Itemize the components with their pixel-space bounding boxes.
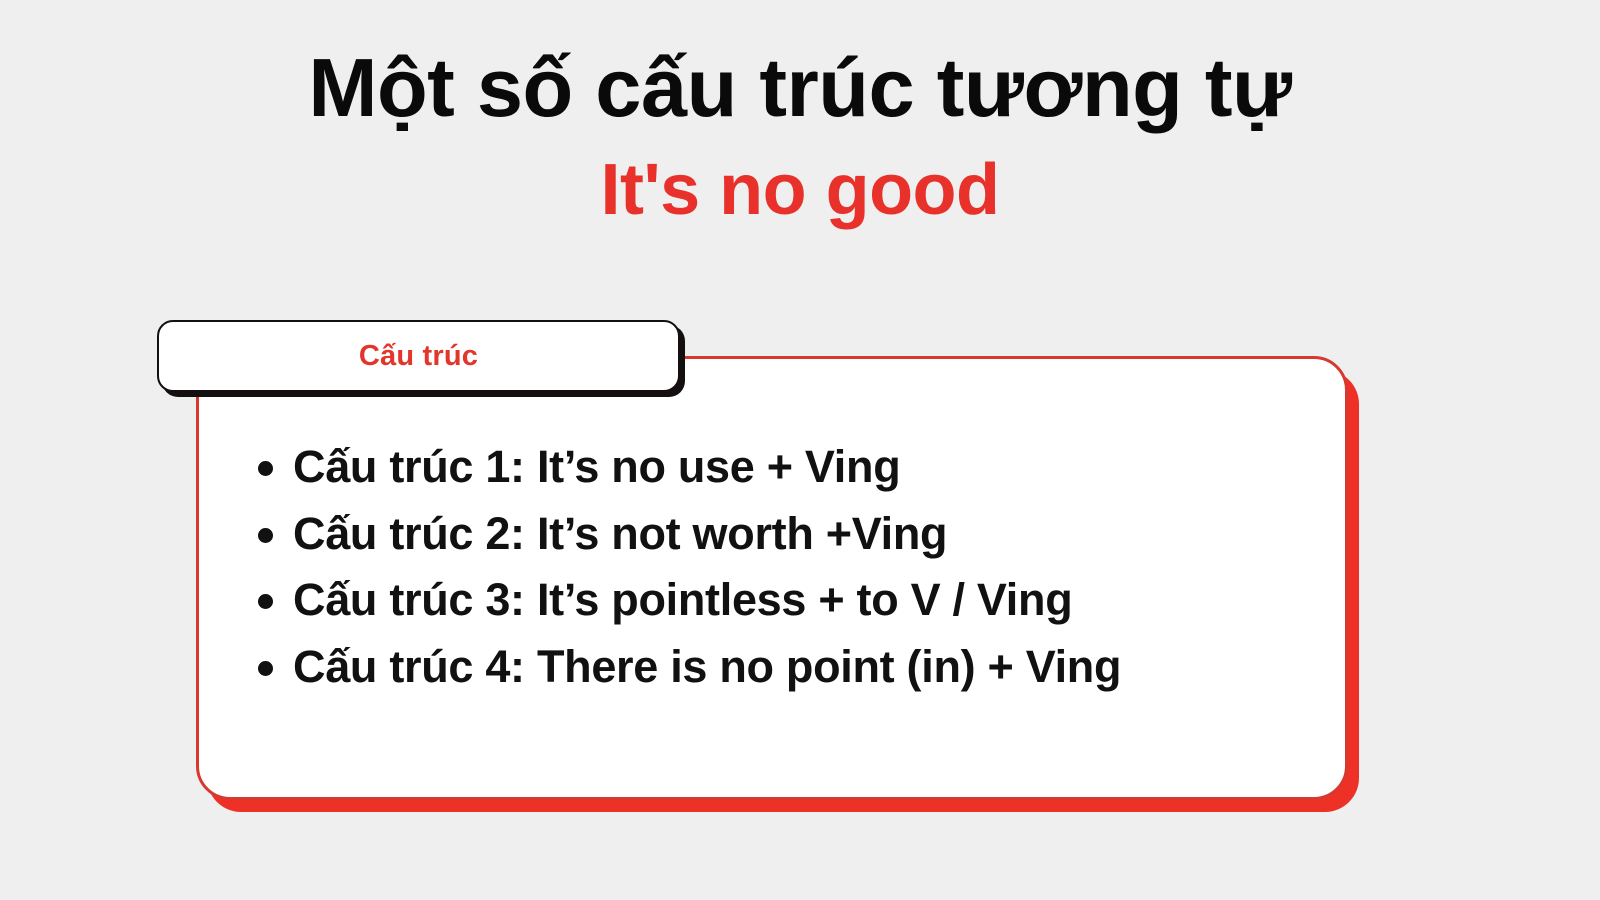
bullet-dot-icon bbox=[258, 461, 273, 476]
list-item-label: Cấu trúc 3: It’s pointless + to V / Ving bbox=[293, 575, 1072, 625]
card-content: Cấu trúc 1: It’s no use + Ving Cấu trúc … bbox=[196, 356, 1348, 800]
list-item-label: Cấu trúc 4: There is no point (in) + Vin… bbox=[293, 642, 1121, 692]
list-item: Cấu trúc 4: There is no point (in) + Vin… bbox=[240, 642, 1308, 692]
bullet-dot-icon bbox=[258, 528, 273, 543]
list-item-label: Cấu trúc 1: It’s no use + Ving bbox=[293, 442, 900, 492]
list-item: Cấu trúc 2: It’s not worth +Ving bbox=[240, 509, 1308, 559]
card-tab-label: Cấu trúc bbox=[359, 340, 478, 373]
page-subtitle: It's no good bbox=[0, 149, 1600, 232]
list-item: Cấu trúc 1: It’s no use + Ving bbox=[240, 442, 1308, 492]
structure-card: Cấu trúc 1: It’s no use + Ving Cấu trúc … bbox=[157, 320, 1357, 815]
heading-block: Một số cấu trúc tương tự It's no good bbox=[0, 42, 1600, 232]
bullet-dot-icon bbox=[258, 661, 273, 676]
bullet-dot-icon bbox=[258, 594, 273, 609]
structure-list: Cấu trúc 1: It’s no use + Ving Cấu trúc … bbox=[240, 442, 1308, 691]
list-item: Cấu trúc 3: It’s pointless + to V / Ving bbox=[240, 575, 1308, 625]
slide-canvas: Một số cấu trúc tương tự It's no good Cấ… bbox=[0, 0, 1600, 900]
page-title: Một số cấu trúc tương tự bbox=[0, 42, 1600, 135]
card-tab: Cấu trúc bbox=[157, 320, 680, 392]
list-item-label: Cấu trúc 2: It’s not worth +Ving bbox=[293, 509, 947, 559]
